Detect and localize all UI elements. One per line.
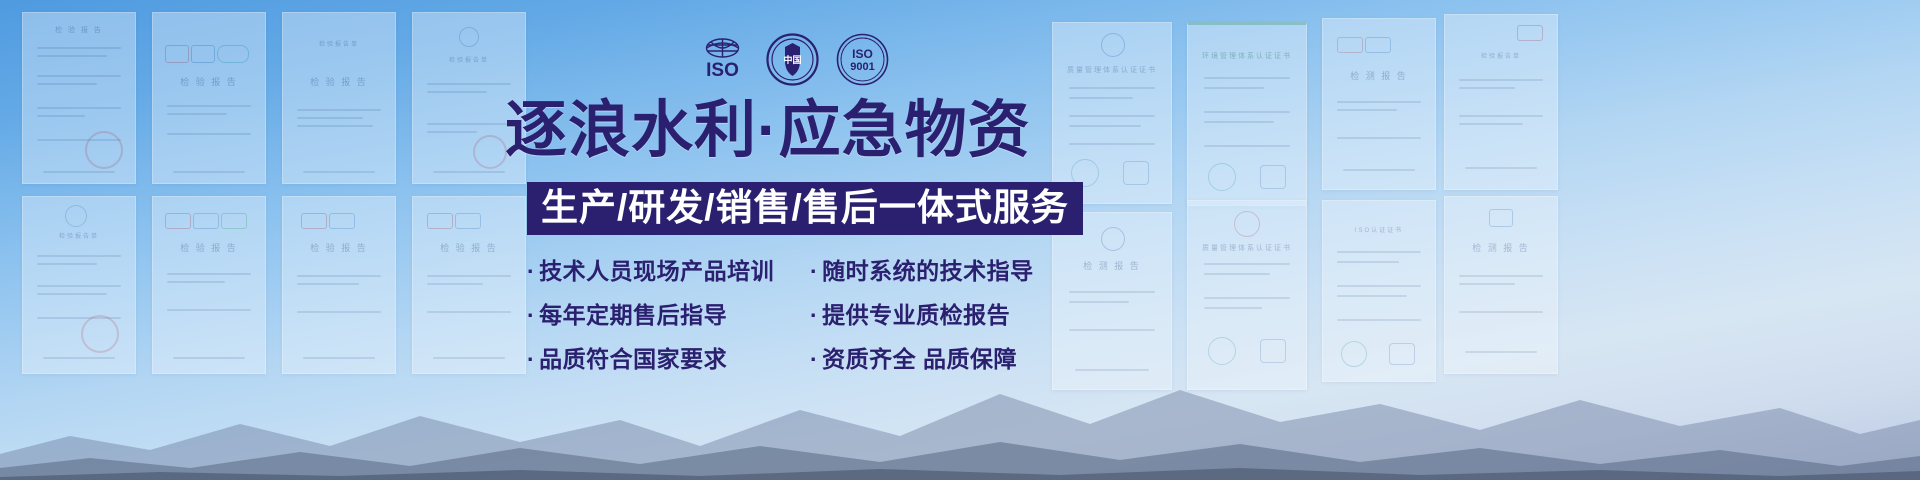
bullet-dot: ·: [810, 302, 818, 328]
certificate-title: 检验报告单: [59, 231, 99, 240]
cert-shield-badge: 中国: [765, 32, 820, 87]
list-item: ·品质符合国家要求 ·资质齐全 品质保障: [527, 335, 1067, 379]
bullet-dot: ·: [527, 258, 535, 284]
certificate-title: 检 测 报 告: [1083, 259, 1141, 272]
svg-text:中国: 中国: [783, 54, 801, 65]
list-item: ·技术人员现场产品培训 ·随时系统的技术指导: [527, 247, 1067, 291]
certificate-title: 质量管理体系认证证书: [1067, 65, 1157, 75]
bullet-dot: ·: [527, 346, 535, 372]
certificate-document: 检 验 报 告: [152, 196, 266, 374]
feature-text: ·提供专业质检报告: [810, 296, 1010, 330]
certificate-document: 检 验 报 告: [22, 12, 136, 184]
page-title: 逐浪水利·应急物资: [505, 100, 1031, 162]
feature-text: ·资质齐全 品质保障: [810, 340, 1017, 374]
certificate-title: 检 验 报 告: [310, 241, 368, 254]
certificate-document: 检验报告单: [22, 196, 136, 374]
certificate-title: 检 测 报 告: [1350, 69, 1408, 82]
feature-text: ·每年定期售后指导: [527, 296, 810, 330]
certificate-document: 检 验 报 告: [152, 12, 266, 184]
certificate-document: 检 测 报 告: [1444, 196, 1558, 374]
certificate-title: 环境管理体系认证证书: [1202, 51, 1292, 61]
bullet-dot: ·: [527, 302, 535, 328]
certificate-title: 检验报告单: [1481, 51, 1521, 60]
certificate-title: 检 验 报 告: [180, 241, 238, 254]
certification-badges: ISO 中国 ISO 9001: [695, 30, 890, 88]
certificate-document: 检 验 报 告: [282, 196, 396, 374]
certificate-document: 质量管理体系认证证书: [1052, 22, 1172, 204]
bullet-dot: ·: [810, 346, 818, 372]
iso-9001-badge: ISO 9001: [835, 32, 890, 87]
list-item: ·每年定期售后指导 ·提供专业质检报告: [527, 291, 1067, 335]
svg-text:ISO: ISO: [706, 60, 739, 81]
certificate-document: 检验报告单: [1444, 14, 1558, 190]
certificate-title: 检 验 报 告: [180, 75, 238, 88]
feature-list: ·技术人员现场产品培训 ·随时系统的技术指导 ·每年定期售后指导 ·提供专业质检…: [527, 247, 1067, 379]
certificate-title: 检 验 报 告: [55, 25, 103, 35]
subtitle-bar: 生产/研发/销售/售后一体式服务: [527, 182, 1083, 235]
certificate-title: 检验报告单: [319, 39, 359, 48]
feature-text: ·技术人员现场产品培训: [527, 252, 810, 286]
certificate-title: 检 测 报 告: [1472, 241, 1530, 254]
certificate-document: 检验报告单 检 验 报 告: [282, 12, 396, 184]
iso-globe-badge: ISO: [695, 32, 750, 87]
feature-text: ·品质符合国家要求: [527, 340, 810, 374]
svg-text:ISO: ISO: [852, 47, 873, 61]
certificate-title: 质量管理体系认证证书: [1202, 243, 1292, 253]
certificate-document: 检 测 报 告: [1322, 18, 1436, 190]
promo-banner: 检 验 报 告 检 验 报 告 检验报告单 检 验 报 告: [0, 0, 1920, 480]
certificate-document: 检 验 报 告: [412, 196, 526, 374]
certificate-title: 检 验 报 告: [440, 241, 498, 254]
feature-text: ·随时系统的技术指导: [810, 252, 1034, 286]
bullet-dot: ·: [810, 258, 818, 284]
certificate-title: 检验报告单: [449, 55, 489, 64]
certificate-title: ISO认证证书: [1355, 225, 1403, 234]
certificate-document: 环境管理体系认证证书: [1187, 22, 1307, 206]
svg-text:9001: 9001: [850, 61, 874, 73]
